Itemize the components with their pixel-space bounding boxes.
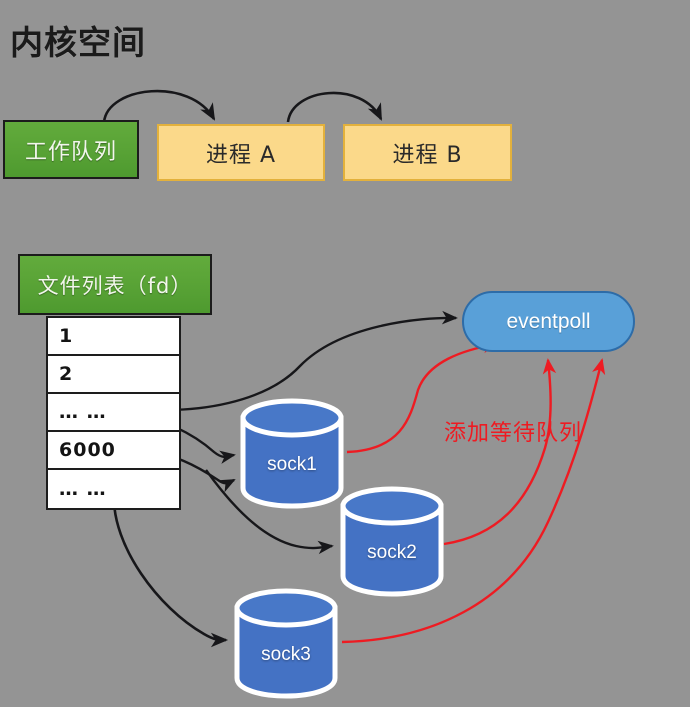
page-title: 内核空间 xyxy=(10,16,146,64)
edge-workqueue-to-process-a xyxy=(104,91,214,122)
table-row[interactable]: 6000 xyxy=(48,432,179,470)
table-row[interactable]: … … xyxy=(48,394,179,432)
work-queue-label: 工作队列 xyxy=(25,134,117,166)
diagram-canvas: 内核空间 xyxy=(0,0,690,707)
cylinder-icon xyxy=(232,586,340,700)
table-row[interactable]: … … xyxy=(48,470,179,508)
node-work-queue[interactable]: 工作队列 xyxy=(3,120,139,179)
cylinder-icon xyxy=(238,396,346,510)
process-a-label: 进程 A xyxy=(206,137,276,169)
edge-sock2-to-eventpoll xyxy=(444,360,551,544)
edge-fd-dots-to-sock3 xyxy=(114,495,226,640)
fd-cell-value: … … xyxy=(59,401,107,423)
node-process-a[interactable]: 进程 A xyxy=(157,124,325,181)
fd-cell-value: 2 xyxy=(59,363,73,385)
edge-process-a-to-process-b xyxy=(288,93,381,122)
fd-cell-value: 6000 xyxy=(59,439,116,461)
eventpoll-label: eventpoll xyxy=(506,310,590,334)
fd-cell-value: 1 xyxy=(59,325,73,347)
table-row[interactable]: 1 xyxy=(48,318,179,356)
annotation-add-wait-queue: 添加等待队列 xyxy=(444,415,582,447)
fd-cell-value: … … xyxy=(59,478,107,500)
node-sock1[interactable]: sock1 xyxy=(238,396,346,510)
node-process-b[interactable]: 进程 B xyxy=(343,124,512,181)
table-row[interactable]: 2 xyxy=(48,356,179,394)
node-sock3[interactable]: sock3 xyxy=(232,586,340,700)
process-b-label: 进程 B xyxy=(392,137,462,169)
node-fd-list-header[interactable]: 文件列表（fd） xyxy=(18,254,212,315)
fd-list-header-label: 文件列表（fd） xyxy=(38,270,193,300)
node-sock2[interactable]: sock2 xyxy=(338,484,446,598)
cylinder-icon xyxy=(338,484,446,598)
fd-table: 1 2 … … 6000 … … xyxy=(46,316,181,510)
node-eventpoll[interactable]: eventpoll xyxy=(462,291,635,352)
